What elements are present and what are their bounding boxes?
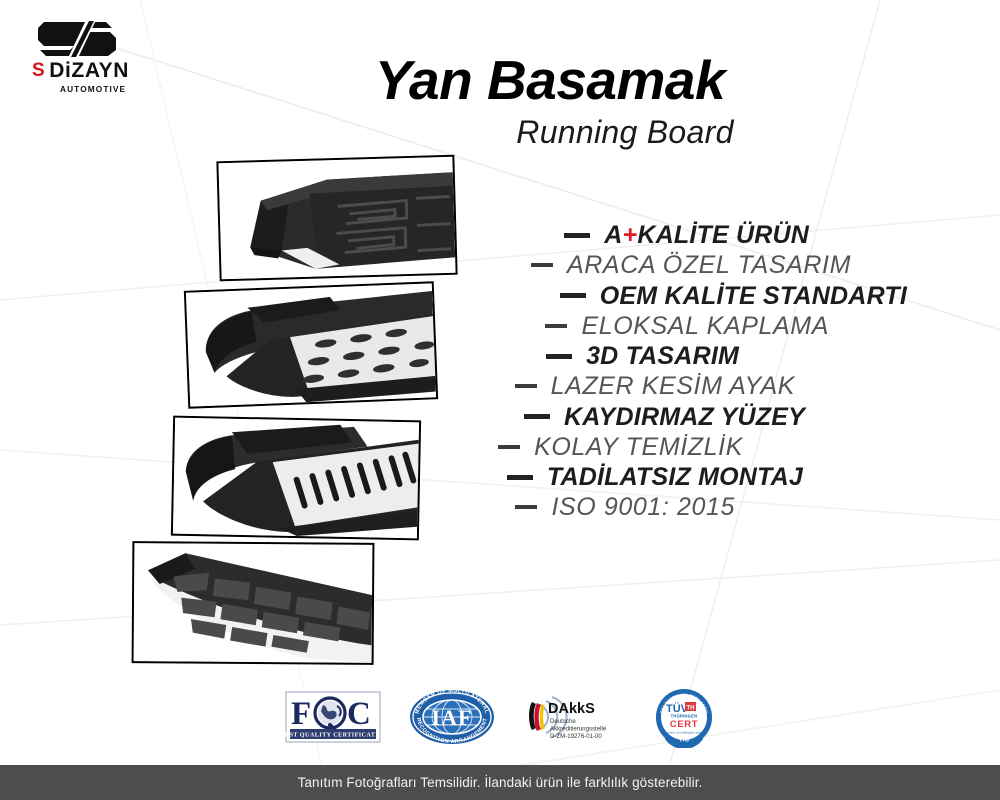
feature-label: KOLAY TEMİZLİK: [534, 434, 743, 460]
s-monogram-icon: [34, 18, 126, 58]
footer-bar: Tanıtım Fotoğrafları Temsilidir. İlandak…: [0, 765, 1000, 800]
tuv-region: THÜRINGEN: [671, 714, 698, 719]
page-title: Yan Basamak: [270, 52, 830, 108]
feature-label: ELOKSAL KAPLAMA: [581, 313, 829, 339]
feature-item: KOLAY TEMİZLİK: [455, 434, 925, 460]
tuv-certification-logo: TÜV THÜRINGEN CERT GMBH TÜV TH THÜRINGEN…: [653, 686, 715, 748]
bullet-dash-icon: [560, 293, 586, 298]
product-photo-4: [132, 541, 375, 665]
dakks-line2: Akkreditierungsstelle: [550, 726, 607, 733]
feature-item: KAYDIRMAZ YÜZEY: [455, 404, 925, 430]
product-photo-1: [216, 155, 457, 282]
feature-item: ISO 9001: 2015: [455, 494, 925, 520]
iaf-acronym: IAF: [431, 705, 472, 730]
bullet-dash-icon: [546, 354, 572, 359]
dakks-line3: D-ZM-19276-01-00: [550, 733, 602, 740]
svg-text:TIC: TIC: [679, 737, 690, 744]
brand-logo: S DiZAYN AUTOMOTIVE: [22, 18, 162, 96]
logo-tagline: AUTOMOTIVE: [60, 84, 162, 94]
feature-label: ISO 9001: 2015: [551, 494, 735, 520]
feature-label: LAZER KESİM AYAK: [551, 373, 795, 399]
dakks-certification-logo: DAkkS Deutsche Akkreditierungsstelle D-Z…: [522, 691, 626, 743]
feature-label: TADİLATSIZ MONTAJ: [547, 464, 803, 490]
bullet-dash-icon: [531, 263, 553, 267]
iaf-certification-logo: IAF MEMBER OF MULTILATERAL RECOGNITION A…: [408, 688, 496, 746]
svg-text:F: F: [291, 696, 311, 732]
feature-item: OEM KALİTE STANDARTI: [455, 283, 925, 309]
feature-item: TADİLATSIZ MONTAJ: [455, 464, 925, 490]
feature-item: ARACA ÖZEL TASARIM: [455, 252, 925, 278]
bullet-dash-icon: [564, 233, 590, 238]
fqc-caption: FIRST QUALITY CERTIFICATION: [285, 732, 381, 739]
page-subtitle: Running Board: [420, 114, 830, 151]
feature-item: ELOKSAL KAPLAMA: [455, 313, 925, 339]
title-block: Yan Basamak Running Board: [270, 52, 830, 151]
svg-text:C: C: [347, 696, 371, 732]
feature-label: A+KALİTE ÜRÜN: [604, 222, 809, 248]
feature-list: A+KALİTE ÜRÜN ARACA ÖZEL TASARIM OEM KAL…: [455, 222, 925, 521]
product-banner: S DiZAYN AUTOMOTIVE Yan Basamak Running …: [0, 0, 1000, 800]
feature-label: KAYDIRMAZ YÜZEY: [564, 404, 805, 430]
logo-accent-letter: S: [32, 61, 44, 80]
product-photo-2: [184, 281, 438, 409]
bullet-dash-icon: [515, 384, 537, 388]
bullet-dash-icon: [545, 324, 567, 328]
feature-label: ARACA ÖZEL TASARIM: [567, 252, 851, 278]
svg-text:TH: TH: [686, 706, 694, 712]
feature-label: OEM KALİTE STANDARTI: [600, 283, 907, 309]
dakks-acronym: DAkkS: [548, 701, 595, 717]
logo-brand-name: DiZAYN: [49, 60, 129, 81]
dakks-line1: Deutsche: [550, 718, 576, 725]
tuv-sub: system of certification body: [665, 731, 703, 735]
feature-item: A+KALİTE ÜRÜN: [455, 222, 925, 248]
footer-disclaimer: Tanıtım Fotoğrafları Temsilidir. İlandak…: [298, 775, 703, 790]
fqc-certification-logo: F C FIRST QUALITY CERTIFICATION: [285, 691, 381, 743]
feature-item: LAZER KESİM AYAK: [455, 373, 925, 399]
feature-label: 3D TASARIM: [586, 343, 739, 369]
bullet-dash-icon: [498, 445, 520, 449]
bullet-dash-icon: [515, 505, 537, 509]
certification-badges: F C FIRST QUALITY CERTIFICATION IAF: [285, 682, 715, 752]
bullet-dash-icon: [507, 475, 533, 480]
tuv-label: CERT: [670, 719, 698, 730]
feature-item: 3D TASARIM: [455, 343, 925, 369]
bullet-dash-icon: [524, 414, 550, 419]
plus-accent: +: [623, 221, 638, 249]
product-photo-3: [171, 416, 421, 541]
